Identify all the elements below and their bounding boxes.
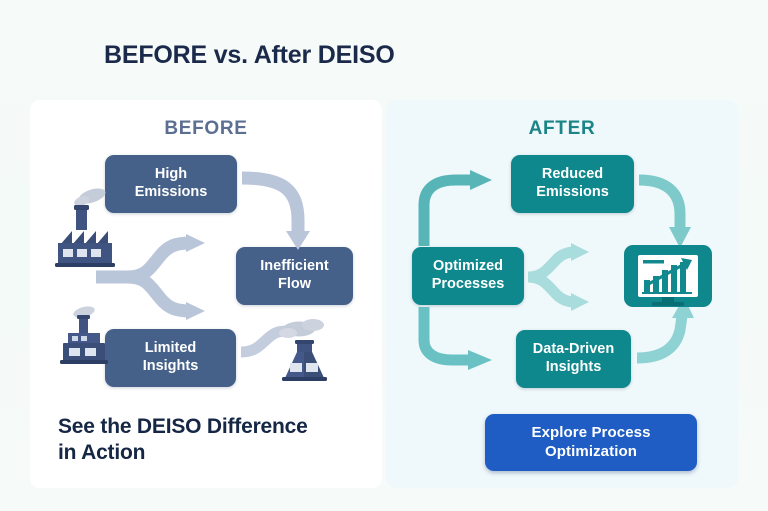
node-data-driven-insights-label: Data-Driven Insights [533, 341, 614, 376]
node-inefficient-flow[interactable]: Inefficient Flow [236, 247, 353, 305]
node-line-1: Data-Driven [533, 341, 614, 357]
cta-headline: See the DEISO Difference in Action [58, 414, 388, 467]
node-line-2: Insights [143, 358, 199, 374]
node-high-emissions-label: High Emissions [135, 166, 208, 201]
infographic-canvas: BEFORE vs. After DEISO BEFORE High Emiss… [0, 0, 768, 511]
node-reduced-emissions-label: Reduced Emissions [536, 166, 609, 201]
node-optimized-processes[interactable]: Optimized Processes [412, 247, 524, 305]
panel-after-heading: AFTER [386, 118, 738, 140]
node-high-emissions[interactable]: High Emissions [105, 155, 237, 213]
node-line-1: Inefficient [260, 258, 328, 274]
node-line-1: Reduced [542, 166, 603, 182]
panel-before-heading: BEFORE [30, 118, 382, 140]
cta-headline-line-2: in Action [58, 441, 145, 464]
node-limited-insights[interactable]: Limited Insights [105, 329, 236, 387]
node-line-1: Limited [145, 340, 197, 356]
node-data-driven-insights[interactable]: Data-Driven Insights [516, 330, 631, 388]
page-title: BEFORE vs. After DEISO [104, 41, 395, 70]
node-line-2: Flow [278, 276, 311, 292]
node-line-1: High [155, 166, 187, 182]
node-line-2: Emissions [536, 184, 609, 200]
node-line-2: Insights [546, 359, 602, 375]
cta-headline-line-1: See the DEISO Difference [58, 415, 308, 438]
node-optimized-processes-label: Optimized Processes [432, 258, 505, 293]
explore-process-optimization-button[interactable]: Explore Process Optimization [485, 414, 697, 471]
node-line-1: Optimized [433, 258, 503, 274]
node-line-2: Processes [432, 276, 505, 292]
node-line-2: Emissions [135, 184, 208, 200]
node-inefficient-flow-label: Inefficient Flow [260, 258, 328, 293]
cta-button-line-2: Optimization [545, 443, 637, 460]
node-limited-insights-label: Limited Insights [143, 340, 199, 375]
cta-button-line-1: Explore Process [531, 424, 650, 441]
node-reduced-emissions[interactable]: Reduced Emissions [511, 155, 634, 213]
